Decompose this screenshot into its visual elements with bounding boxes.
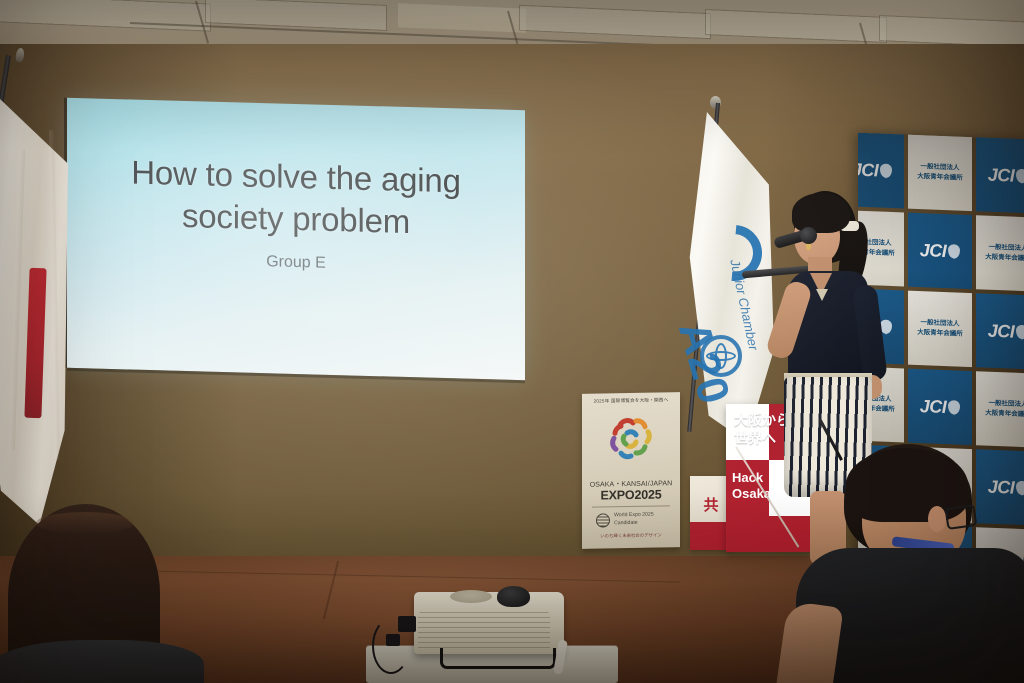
backdrop-jp-text: 一般社団法人大阪青年会議所 [985, 243, 1024, 264]
glasses-icon [945, 504, 978, 530]
projection-screen: How to solve the aging society problem G… [67, 98, 525, 380]
jci-pin-icon [880, 164, 892, 178]
slide-title: How to solve the aging society problem [67, 150, 525, 247]
expo-candidate-text: World Expo 2025 Candidate [614, 512, 654, 528]
globe-icon [596, 513, 610, 527]
jci-logo: JCI [988, 164, 1024, 187]
jci-logo: JCI [920, 396, 961, 419]
backdrop-jp-text: 一般社団法人大阪青年会議所 [917, 162, 963, 183]
backdrop-tile-blue: JCI [976, 293, 1024, 369]
projector-vents [418, 612, 550, 652]
jci-logo: JCI [988, 320, 1024, 343]
jci-wordmark: JCI [988, 164, 1015, 186]
jci-pin-icon [1016, 169, 1024, 183]
cable-plug [386, 634, 400, 646]
projector-knob [497, 586, 530, 607]
backdrop-tile-white: 一般社団法人大阪青年会議所 [908, 291, 972, 367]
audience-right-ear [928, 506, 946, 532]
audience-left-hair-part [36, 512, 134, 534]
divider [592, 505, 670, 507]
jci-wordmark: JCI [920, 240, 947, 262]
backdrop-jp-line2: 大阪青年会議所 [917, 172, 963, 183]
ceiling-light [398, 3, 526, 33]
audience-member-right [788, 444, 1024, 683]
jci-pin-icon [948, 244, 960, 258]
backdrop-jp-line2: 大阪青年会議所 [917, 328, 963, 339]
backdrop-tile-white: 一般社団法人大阪青年会議所 [976, 215, 1024, 291]
jci-pin-icon [948, 400, 960, 414]
backdrop-tile-white: 一般社団法人大阪青年会議所 [976, 371, 1024, 447]
slide-surface: How to solve the aging society problem G… [67, 98, 525, 380]
backdrop-jp-line2: 大阪青年会議所 [985, 409, 1024, 420]
expo-logo-icon [600, 410, 662, 469]
globe-icon [700, 335, 742, 377]
expo-2025-poster: 2025年 国際博覧会を大阪・関西へ OSAKA・KANSAI/JAPAN EX… [582, 392, 680, 549]
power-cable [372, 618, 410, 674]
expo-poster-top-line: 2025年 国際博覧会を大阪・関西へ [582, 397, 680, 405]
audience-member-left [0, 498, 200, 683]
microphone-head [800, 227, 817, 244]
expo-candidate-line2: Candidate [614, 519, 654, 527]
presenter-hair-front [792, 193, 850, 233]
jci-logo: JCI [920, 240, 961, 263]
jci-pin-icon [1016, 325, 1024, 339]
slide-subtitle: Group E [67, 248, 525, 278]
backdrop-tile-blue: JCI [908, 213, 972, 289]
audience-left-shoulders [0, 640, 204, 683]
backdrop-tile-blue: JCI [976, 137, 1024, 213]
expo-poster-headline: EXPO2025 [582, 487, 680, 503]
jci-wordmark: JCI [988, 320, 1015, 342]
backdrop-jp-text: 一般社団法人大阪青年会議所 [985, 399, 1024, 420]
projector-lens [450, 590, 492, 603]
backdrop-tile-white: 一般社団法人大阪青年会議所 [908, 135, 972, 211]
jci-wordmark: JCI [858, 159, 878, 181]
presentation-scene: How to solve the aging society problem G… [0, 0, 1024, 683]
jci-logo: JCI [858, 159, 892, 182]
backdrop-jp-line2: 大阪青年会議所 [985, 253, 1024, 264]
jci-wordmark: JCI [920, 396, 947, 418]
backdrop-tile-blue: JCI [908, 369, 972, 445]
projector-handle [440, 648, 556, 669]
expo-poster-footer: いのち輝く未来社会のデザイン [582, 532, 680, 540]
expo-candidate-line1: World Expo 2025 [614, 512, 654, 520]
backdrop-jp-text: 一般社団法人大阪青年会議所 [917, 318, 963, 339]
